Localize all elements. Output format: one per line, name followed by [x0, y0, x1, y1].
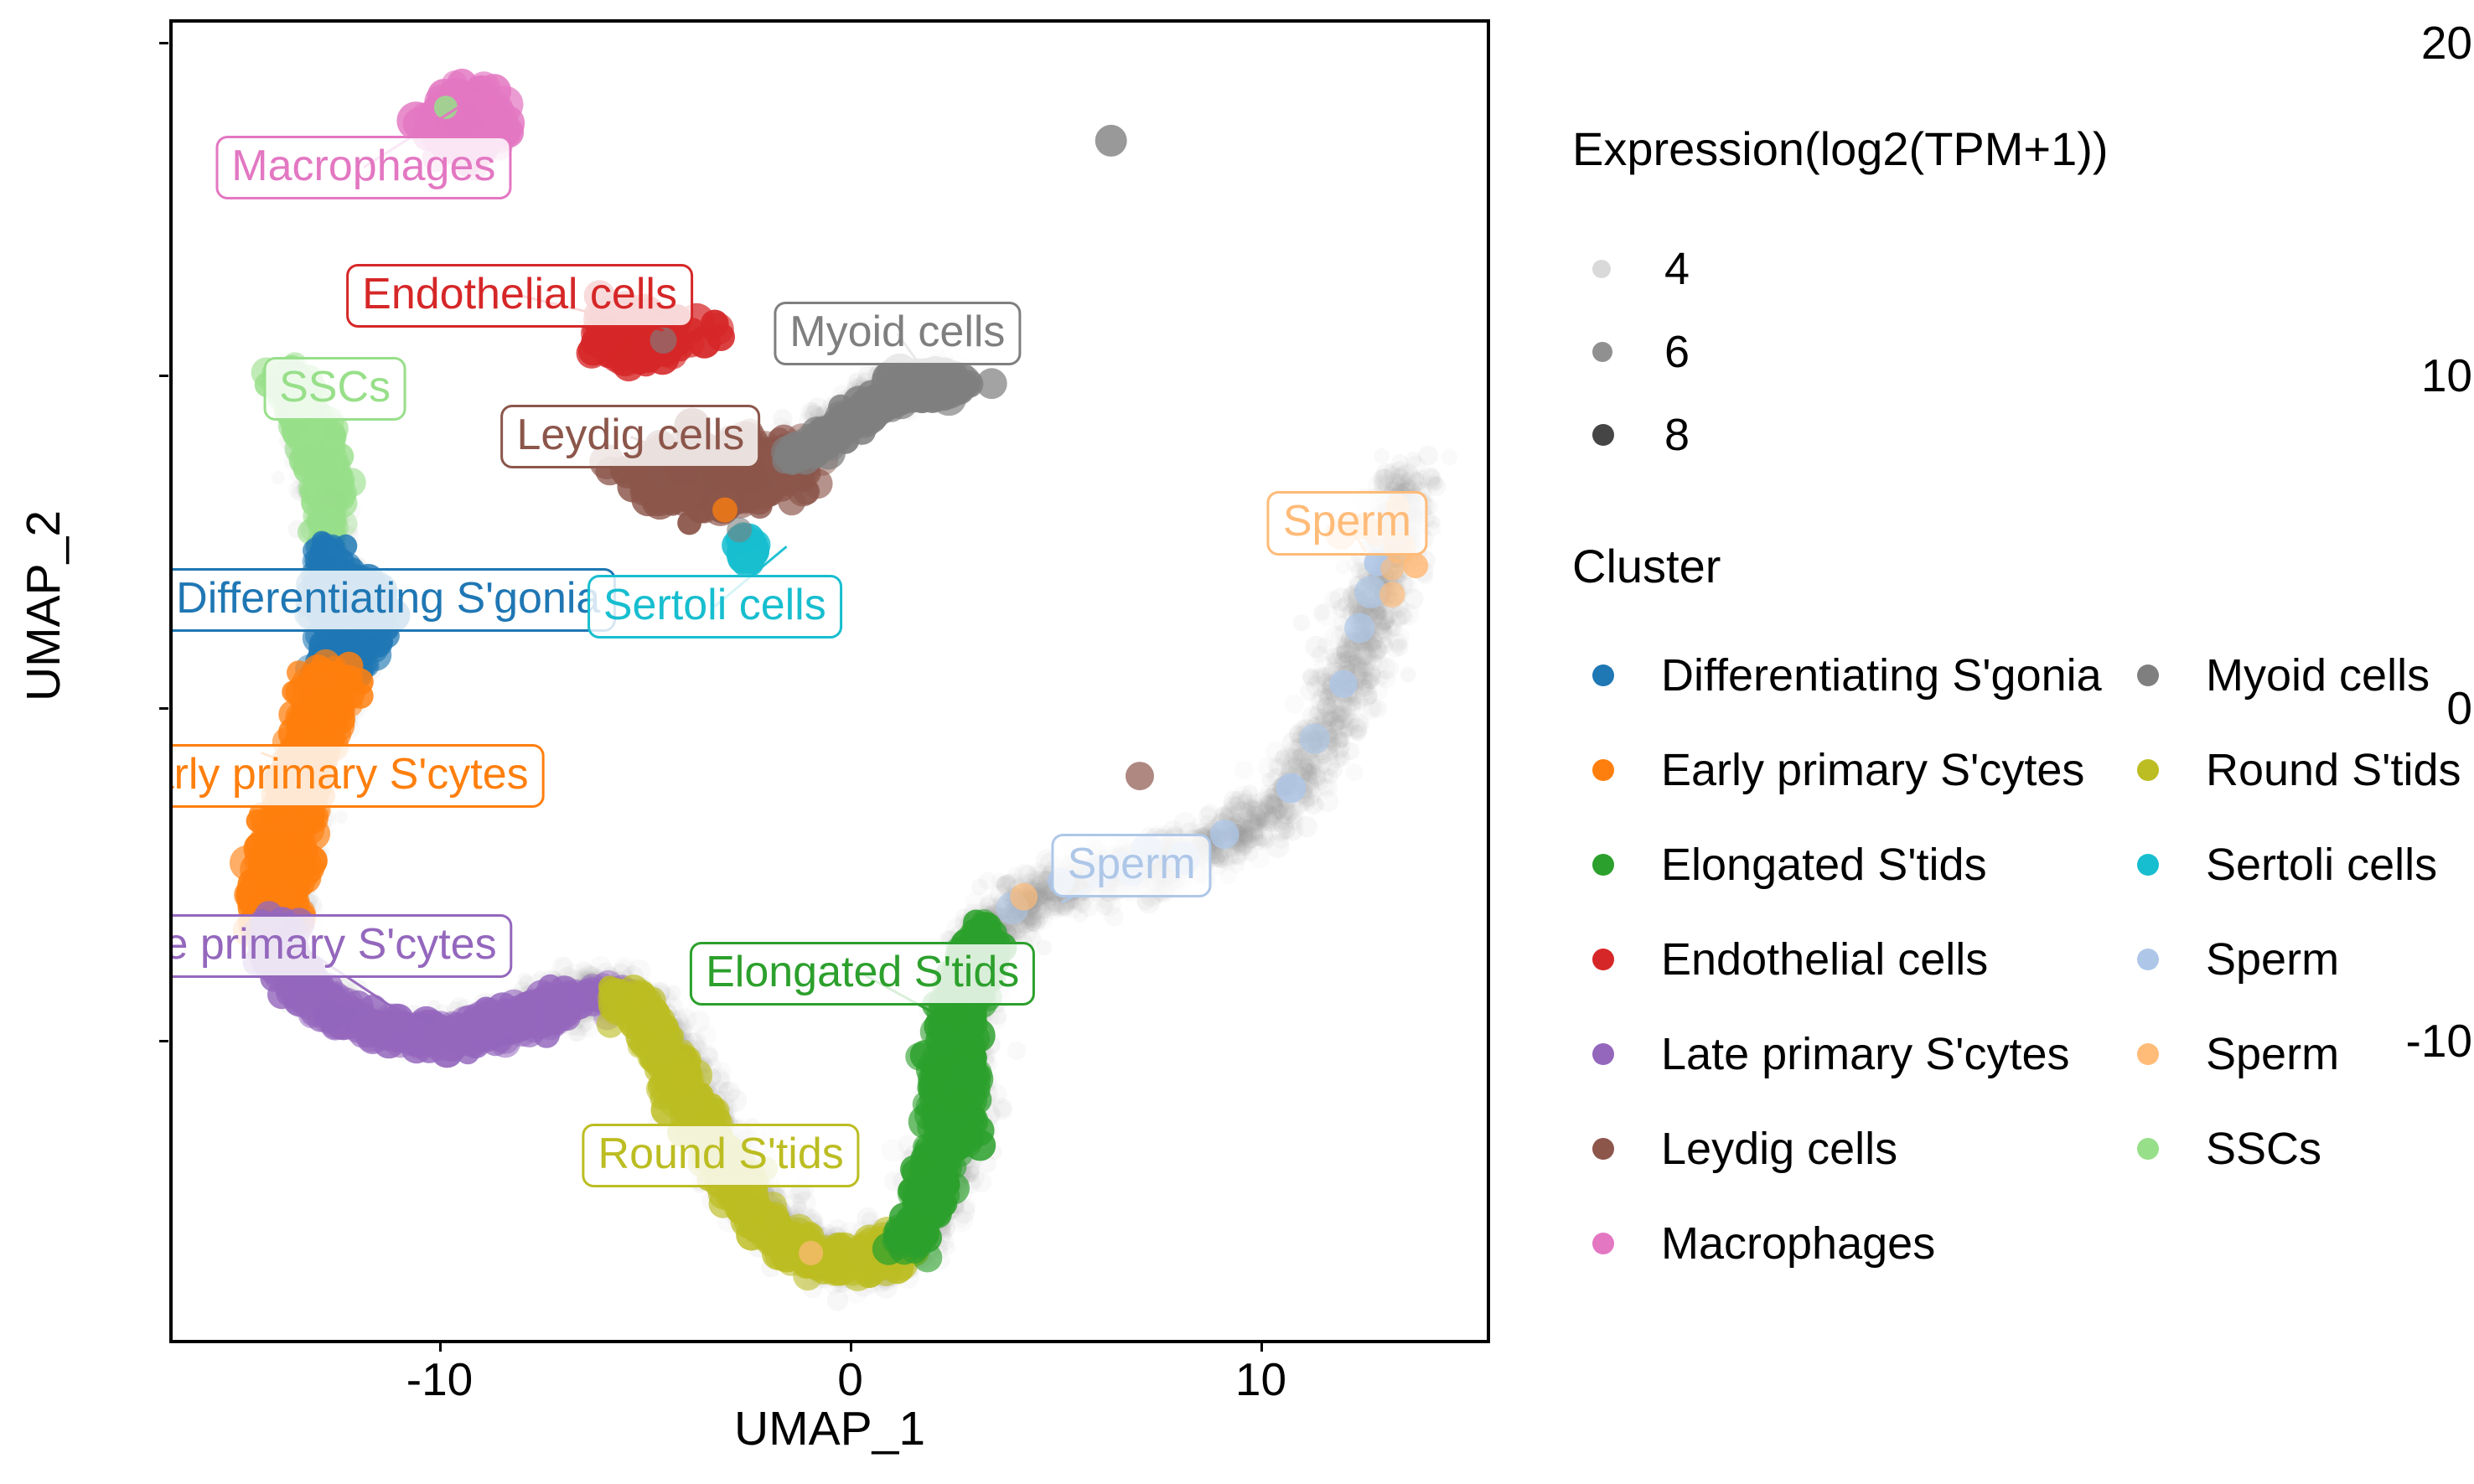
cluster-legend-item[interactable]: Elongated S'tids [1592, 839, 1987, 891]
cluster-legend-label: Round S'tids [2206, 744, 2461, 796]
plot-panel: MacrophagesEndothelial cellsSSCsLeydig c… [169, 19, 1490, 1343]
cluster-legend-label: Elongated S'tids [1661, 839, 1987, 891]
x-tick-mark [850, 1342, 852, 1352]
y-tick-label: 20 [2330, 16, 2472, 70]
size-legend-item[interactable]: 4 [1592, 243, 1690, 295]
cluster-legend-title: Cluster [1572, 539, 1721, 593]
umap-plot-figure: UMAP_2 UMAP_1 20100-10-10010 Macrophages… [0, 0, 2474, 1484]
cluster-legend-item[interactable]: SSCs [2137, 1123, 2321, 1175]
x-tick-mark [439, 1342, 442, 1352]
cluster-legend-dot-icon [1592, 1043, 1614, 1065]
cluster-annotation-round-s-tids: Round S'tids [582, 1124, 860, 1187]
cluster-legend-label: Sperm [2206, 1028, 2339, 1080]
cluster-legend-label: Sertoli cells [2206, 839, 2437, 891]
x-tick-label: -10 [406, 1352, 474, 1406]
x-axis-title: UMAP_1 [169, 1401, 1490, 1456]
y-axis-title: UMAP_2 [16, 463, 71, 748]
cluster-annotation-sperm: Sperm [1267, 491, 1427, 555]
cluster-legend-dot-icon [2137, 1138, 2159, 1160]
cluster-legend-item[interactable]: Differentiating S'gonia [1592, 649, 2102, 701]
cluster-legend-label: Endothelial cells [1661, 933, 1988, 985]
cluster-legend-label: Leydig cells [1661, 1123, 1897, 1175]
size-legend-item[interactable]: 8 [1592, 409, 1690, 461]
cluster-legend-item[interactable]: Macrophages [1592, 1218, 1935, 1269]
y-tick-mark [159, 707, 168, 710]
cluster-annotation-sperm: Sperm [1052, 834, 1212, 897]
cluster-annotation-endothelial-cells: Endothelial cells [346, 263, 693, 327]
size-legend-item[interactable]: 6 [1592, 326, 1690, 378]
cluster-legend-dot-icon [2137, 854, 2159, 876]
cluster-legend-item[interactable]: Round S'tids [2137, 744, 2461, 796]
cluster-legend-dot-icon [2137, 759, 2159, 781]
y-tick-mark [159, 375, 168, 377]
cluster-annotation-leydig-cells: Leydig cells [500, 405, 760, 468]
cluster-annotation-early-primary-s-cytes: Early primary S'cytes [169, 744, 545, 808]
y-tick-label: -10 [2330, 1014, 2472, 1068]
cluster-annotation-differentiating-s-gonia: Differentiating S'gonia [169, 568, 616, 632]
cluster-legend-dot-icon [1592, 949, 1614, 970]
cluster-legend-dot-icon [1592, 759, 1614, 781]
cluster-legend-dot-icon [2137, 664, 2159, 686]
x-tick-mark [1260, 1342, 1263, 1352]
cluster-annotation-elongated-s-tids: Elongated S'tids [690, 942, 1035, 1006]
cluster-legend-item[interactable]: Late primary S'cytes [1592, 1028, 2069, 1080]
cluster-legend-dot-icon [1592, 1233, 1614, 1254]
cluster-legend-item[interactable]: Sperm [2137, 933, 2339, 985]
cluster-legend-dot-icon [1592, 854, 1614, 876]
size-legend-dot-icon [1592, 342, 1612, 362]
cluster-legend-item[interactable]: Myoid cells [2137, 649, 2430, 701]
cluster-annotation-myoid-cells: Myoid cells [774, 302, 1021, 365]
x-tick-label: 0 [837, 1352, 863, 1406]
cluster-legend-label: Differentiating S'gonia [1661, 649, 2102, 701]
cluster-legend-dot-icon [1592, 1138, 1614, 1160]
y-tick-mark [159, 42, 168, 44]
y-tick-mark [159, 1040, 168, 1042]
cluster-legend-label: Myoid cells [2206, 649, 2430, 701]
cluster-legend-dot-icon [2137, 949, 2159, 970]
x-tick-label: 10 [1235, 1352, 1286, 1406]
cluster-annotation-sscs: SSCs [263, 357, 406, 421]
cluster-legend-item[interactable]: Leydig cells [1592, 1123, 1897, 1175]
size-legend-dot-icon [1592, 260, 1611, 278]
cluster-legend-label: Early primary S'cytes [1661, 744, 2084, 796]
cluster-annotation-late-primary-s-cytes: Late primary S'cytes [169, 914, 513, 978]
size-legend-label: 4 [1664, 243, 1690, 295]
cluster-legend-item[interactable]: Endothelial cells [1592, 933, 1988, 985]
cluster-legend-label: SSCs [2206, 1123, 2321, 1175]
cluster-legend-label: Macrophages [1661, 1218, 1935, 1269]
cluster-legend-dot-icon [1592, 664, 1614, 686]
cluster-legend-dot-icon [2137, 1043, 2159, 1065]
size-legend-title: Expression(log2(TPM+1)) [1572, 122, 2109, 176]
cluster-legend-label: Late primary S'cytes [1661, 1028, 2069, 1080]
size-legend-dot-icon [1592, 424, 1614, 446]
size-legend-label: 8 [1664, 409, 1690, 461]
cluster-legend-item[interactable]: Sertoli cells [2137, 839, 2437, 891]
cluster-legend-label: Sperm [2206, 933, 2339, 985]
cluster-legend-item[interactable]: Sperm [2137, 1028, 2339, 1080]
cluster-annotation-sertoli-cells: Sertoli cells [587, 575, 842, 639]
size-legend-label: 6 [1664, 326, 1690, 378]
cluster-legend-item[interactable]: Early primary S'cytes [1592, 744, 2084, 796]
cluster-annotation-macrophages: Macrophages [215, 136, 511, 199]
y-tick-label: 10 [2330, 349, 2472, 402]
